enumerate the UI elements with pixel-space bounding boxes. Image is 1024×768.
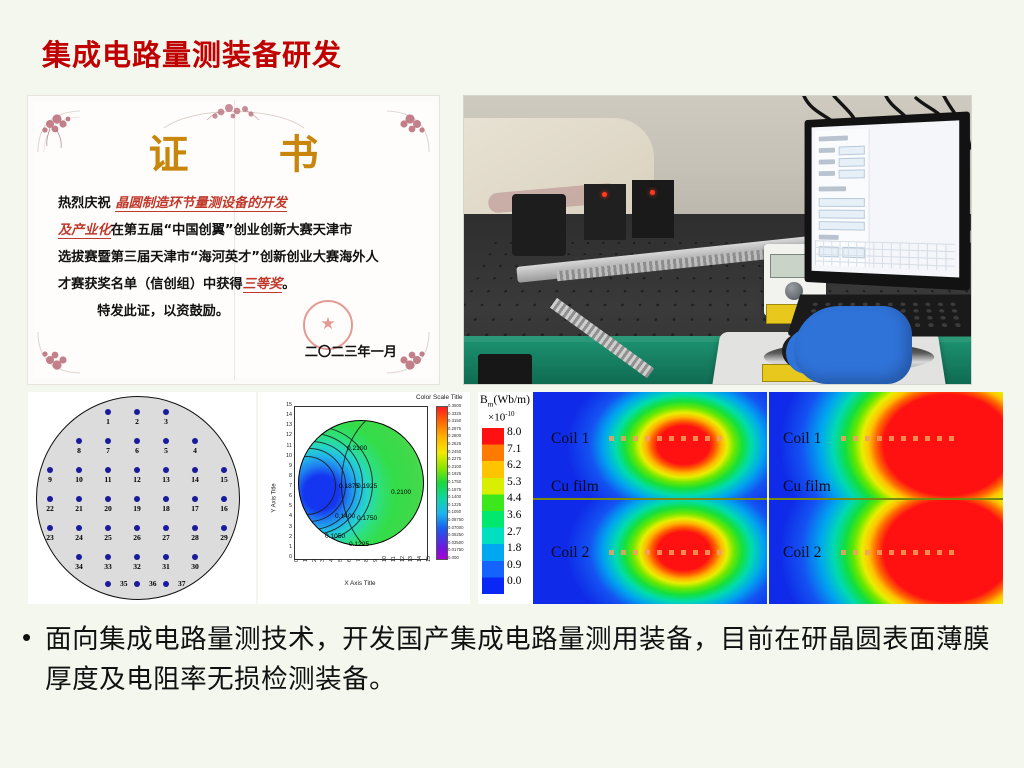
colorscale-title: Color Scale Title: [416, 394, 463, 401]
wafer-point: [105, 438, 111, 444]
wafer-point-label: 22: [46, 504, 54, 513]
wafer-point: [76, 554, 82, 560]
y-axis-tick: 9: [280, 463, 292, 469]
y-axis-tick: 6: [280, 493, 292, 499]
colorbar-tick: 0.2100: [448, 464, 461, 469]
colorbar-tick: 0.08750: [448, 517, 464, 522]
bm-value: 0.9: [507, 559, 521, 571]
contour-colorbar: [436, 406, 448, 560]
cert-line-prefix: 特发此证，以资鼓励。: [84, 304, 229, 319]
wafer-point: [134, 409, 140, 415]
y-axis-tick: 1: [280, 544, 292, 550]
wafer-point-label: 32: [133, 562, 141, 571]
contour-label: 0.1750: [357, 515, 377, 522]
y-axis-tick: 2: [280, 534, 292, 540]
colorbar-tick: 0.1050: [448, 509, 461, 514]
wafer-point-label: 19: [133, 504, 141, 513]
colorbar-tick: 0.2275: [448, 456, 461, 461]
wafer-point-label: 14: [191, 475, 199, 484]
wafer-point: [163, 496, 169, 502]
contour-plot-area: 0.2100 0.1875 0.1925 0.2100 0.1400 0.175…: [294, 406, 428, 560]
simulation-panel-left: Coil 1 Cu film Coil 2: [533, 392, 767, 604]
bullet-paragraph: • 面向集成电路量测技术，开发国产集成电路量测用装备，目前在研晶圆表面薄膜厚度及…: [22, 620, 997, 700]
certificate-date: 二〇二三年一月: [305, 341, 397, 360]
coil-2-elements: [609, 550, 722, 555]
wafer-point-label: 15: [220, 475, 228, 484]
certificate-line: 及产业化在第五届“中国创翼”创业创新大赛天津市: [58, 217, 417, 244]
x-axis-tick: 13: [408, 556, 414, 562]
bm-value: 5.3: [507, 476, 521, 488]
bm-exp-base: ×10: [488, 412, 505, 424]
certificate-line: 特发此证，以资鼓励。: [58, 298, 417, 325]
certificate-line: 选拔赛暨第三届天津市“海河英才”创新创业大赛海外人: [58, 244, 417, 271]
photo-mounting-block: [478, 354, 532, 385]
wafer-point-label: 24: [75, 533, 83, 542]
wafer-point-label: 3: [164, 417, 168, 426]
wafer-point-label: 5: [164, 446, 168, 455]
y-axis-tick: 15: [280, 402, 292, 408]
wafer-point: [192, 496, 198, 502]
wafer-point: [47, 496, 53, 502]
x-axis-tick: 8: [364, 559, 370, 562]
wafer-point-label: 9: [48, 475, 52, 484]
colorbar-tick: 0.2625: [448, 441, 461, 446]
wafer-point: [163, 467, 169, 473]
contour-label: 0.1225: [349, 541, 369, 548]
colorbar-tick: 0.1575: [448, 487, 461, 492]
certificate-line: 热烈庆祝 晶圆制造环节量测设备的开发: [58, 190, 417, 217]
colorbar-tick: 0.3325: [448, 411, 461, 416]
wafer-point: [163, 409, 169, 415]
cert-line-suffix: 。: [282, 277, 295, 292]
wafer-point: [221, 525, 227, 531]
certificate-heading: 证 书: [28, 122, 439, 180]
cert-line-highlight: 晶圆制造环节量测设备的开发: [115, 196, 286, 212]
wafer-point: [134, 438, 140, 444]
bm-title-b: B: [480, 394, 488, 406]
wafer-point-label: 4: [193, 446, 197, 455]
colorbar-tick: 0.01750: [448, 547, 464, 552]
wafer-point: [163, 554, 169, 560]
y-axis-tick: 0: [280, 554, 292, 560]
y-axis-tick: 5: [280, 503, 292, 509]
certificate-image: 证 书 热烈庆祝 晶圆制造环节量测设备的开发 及产业化在第五届“中国创翼”创业创…: [27, 95, 440, 385]
x-axis-tick: 11: [391, 556, 397, 562]
wafer-point-label: 25: [104, 533, 112, 542]
bullet-text: 面向集成电路量测技术，开发国产集成电路量测用装备，目前在研晶圆表面薄膜厚度及电阻…: [45, 620, 997, 700]
bm-value: 7.1: [507, 443, 521, 455]
y-axis-tick: 4: [280, 513, 292, 519]
cert-line-highlight: 及产业化: [58, 223, 111, 239]
laptop-lid: [805, 111, 970, 290]
x-axis-tick: 0: [294, 559, 300, 562]
coil-1-label: Coil 1: [783, 430, 821, 448]
photo-gloved-hand: [794, 306, 912, 384]
wafer-point: [221, 467, 227, 473]
x-axis-tick: 6: [347, 559, 353, 562]
cert-line-suffix: 在第五届“中国创翼”创业创新大赛天津市: [111, 223, 353, 238]
wafer-point: [105, 496, 111, 502]
wafer-point: [134, 554, 140, 560]
colorbar-tick: 0.000: [448, 555, 459, 560]
wafer-point-label: 10: [75, 475, 83, 484]
x-axis-tick: 4: [329, 559, 335, 562]
wafer-point: [192, 467, 198, 473]
colorbar-tick: 0.05250: [448, 532, 464, 537]
y-axis-title: Y Axis Title: [272, 483, 278, 512]
x-axis-tick: 9: [373, 559, 379, 562]
y-axis-tick: 13: [280, 422, 292, 428]
wafer-point: [76, 467, 82, 473]
wafer-point: [76, 438, 82, 444]
wafer-point: [105, 581, 111, 587]
contour-label: 0.2100: [391, 489, 411, 496]
coil-2-label: Coil 2: [551, 544, 589, 562]
bm-value: 0.0: [507, 575, 521, 587]
bm-value: 3.6: [507, 509, 521, 521]
wafer-point: [163, 438, 169, 444]
x-axis-tick: 2: [312, 559, 318, 562]
y-axis-tick: 14: [280, 412, 292, 418]
page-title: 集成电路量测装备研发: [42, 32, 342, 74]
x-axis-tick: 1: [303, 559, 309, 562]
bm-value: 8.0: [507, 426, 521, 438]
coil-1-label: Coil 1: [551, 430, 589, 448]
wafer-point-label: 36: [149, 579, 157, 588]
wafer-point-label: 6: [135, 446, 139, 455]
wafer-point-label: 20: [104, 504, 112, 513]
colorbar-tick: 0.03500: [448, 540, 464, 545]
colorbar-tick: 0.1225: [448, 502, 461, 507]
photo-carriage-block: [632, 180, 674, 238]
wafer-point: [134, 496, 140, 502]
bm-legend-exponent: ×10-10: [488, 410, 515, 424]
bm-title-unit: (Wb/m): [494, 394, 530, 406]
wafer-point-label: 17: [191, 504, 199, 513]
equipment-photo: [463, 95, 972, 385]
wafer-point: [163, 581, 169, 587]
certificate-line: 才赛获奖名单（信创组）中获得三等奖。: [58, 271, 417, 298]
wafer-point: [134, 525, 140, 531]
x-axis-tick: 14: [417, 556, 423, 562]
cu-film-label: Cu film: [783, 478, 831, 496]
coil-simulation-panels: Coil 1 Cu film Coil 2 Coil 1 Cu film: [533, 392, 1003, 604]
coil-2-label: Coil 2: [783, 544, 821, 562]
wafer-point: [134, 581, 140, 587]
wafer-point: [105, 554, 111, 560]
wafer-point-label: 16: [220, 504, 228, 513]
colorbar-tick: 0.2975: [448, 426, 461, 431]
wafer-point-label: 33: [104, 562, 112, 571]
x-axis-tick: 15: [426, 556, 432, 562]
wafer-point-label: 31: [162, 562, 170, 571]
bm-value: 6.2: [507, 459, 521, 471]
y-axis-tick: 11: [280, 443, 292, 449]
floral-corner-icon: [36, 328, 94, 376]
coil-1-elements: [609, 436, 722, 441]
wafer-point-label: 28: [191, 533, 199, 542]
photo-status-led: [650, 190, 655, 195]
wafer-point-label: 26: [133, 533, 141, 542]
cert-line-highlight: 三等奖: [243, 277, 283, 293]
wafer-point-label: 29: [220, 533, 228, 542]
x-axis-tick: 5: [338, 559, 344, 562]
wafer-point: [192, 525, 198, 531]
cu-film-label: Cu film: [551, 478, 599, 496]
wafer-point-label: 18: [162, 504, 170, 513]
simulation-panel-right: Coil 1 Cu film Coil 2: [769, 392, 1003, 604]
bm-value: 2.7: [507, 526, 521, 538]
wafer-point-label: 21: [75, 504, 83, 513]
x-axis-tick: 3: [320, 559, 326, 562]
cert-line-prefix: 热烈庆祝: [58, 196, 115, 211]
x-axis-tick: 12: [400, 556, 406, 562]
colorbar-tick: 0.1925: [448, 471, 461, 476]
colorbar-tick: 0.3150: [448, 418, 461, 423]
colorbar-tick: 0.2450: [448, 449, 461, 454]
bm-exp-sup: -10: [505, 410, 514, 418]
slide-root: 集成电路量测装备研发: [0, 0, 1024, 768]
wafer-point: [192, 438, 198, 444]
x-axis-tick: 10: [382, 556, 388, 562]
bm-value: 1.8: [507, 542, 521, 554]
coil-1-elements: [841, 436, 954, 441]
wafer-point-label: 2: [135, 417, 139, 426]
wafer-point: [76, 525, 82, 531]
wafer-point: [76, 496, 82, 502]
bm-value: 4.4: [507, 492, 521, 504]
wafer-point-label: 27: [162, 533, 170, 542]
wafer-point: [47, 467, 53, 473]
colorbar-tick: 0.1400: [448, 494, 461, 499]
coil-2-elements: [841, 550, 954, 555]
colorbar-tick: 0.3500: [448, 403, 461, 408]
contour-chart: Color Scale Title Y Axis Title X Axis Ti…: [258, 392, 470, 604]
colorbar-tick: 0.2800: [448, 433, 461, 438]
certificate-body: 热烈庆祝 晶圆制造环节量测设备的开发 及产业化在第五届“中国创翼”创业创新大赛天…: [58, 190, 417, 325]
wafer-point-label: 23: [46, 533, 54, 542]
wafer-point: [105, 467, 111, 473]
contour-label: 0.1400: [335, 513, 355, 520]
wafer-point-label: 11: [104, 475, 111, 484]
y-axis-tick: 8: [280, 473, 292, 479]
wafer-point-label: 13: [162, 475, 170, 484]
wafer-point: [221, 496, 227, 502]
wafer-point: [105, 525, 111, 531]
bm-colorbar-gradient: [482, 428, 504, 594]
y-axis-tick: 7: [280, 483, 292, 489]
y-axis-tick: 10: [280, 453, 292, 459]
bm-colorbar-legend: Bm(Wb/m) ×10-10 8.07.16.25.34.43.62.71.8…: [478, 392, 534, 604]
cu-film-boundary: [533, 498, 767, 500]
cert-line-prefix: 才赛获奖名单（信创组）中获得: [58, 277, 243, 292]
wafer-point: [47, 525, 53, 531]
laptop-screen: [812, 120, 960, 277]
wafer-point-label: 34: [75, 562, 83, 571]
cert-line-prefix: 选拔赛暨第三届天津市“海河英才”创新创业大赛海外人: [58, 250, 379, 265]
contour-label: 0.1050: [325, 533, 345, 540]
wafer-point: [134, 467, 140, 473]
wafer-point-label: 8: [77, 446, 81, 455]
wafer-measurement-map: 1234567891011121314151617181920212223242…: [28, 392, 256, 604]
x-axis-title: X Axis Title: [294, 580, 426, 587]
y-axis-tick: 3: [280, 524, 292, 530]
y-axis-tick: 12: [280, 432, 292, 438]
colorbar-tick: 0.07000: [448, 525, 464, 530]
wafer-point-label: 1: [106, 417, 110, 426]
wafer-point-label: 37: [178, 579, 186, 588]
wafer-point-label: 12: [133, 475, 141, 484]
photo-status-led: [602, 192, 607, 197]
bm-legend-title: Bm(Wb/m): [480, 394, 530, 408]
wafer-point: [192, 554, 198, 560]
wafer-point: [105, 409, 111, 415]
software-data-grid: [815, 240, 955, 271]
contour-label: 0.2100: [347, 445, 367, 452]
colorbar-tick: 0.1750: [448, 479, 461, 484]
wafer-point-label: 30: [191, 562, 199, 571]
wafer-point-label: 35: [120, 579, 128, 588]
wafer-point: [163, 525, 169, 531]
photo-motor-block: [512, 194, 566, 256]
wafer-point-label: 7: [106, 446, 110, 455]
contour-label: 0.1925: [357, 483, 377, 490]
x-axis-tick: 7: [356, 559, 362, 562]
cu-film-boundary: [769, 498, 1003, 500]
bullet-marker: •: [22, 620, 31, 700]
